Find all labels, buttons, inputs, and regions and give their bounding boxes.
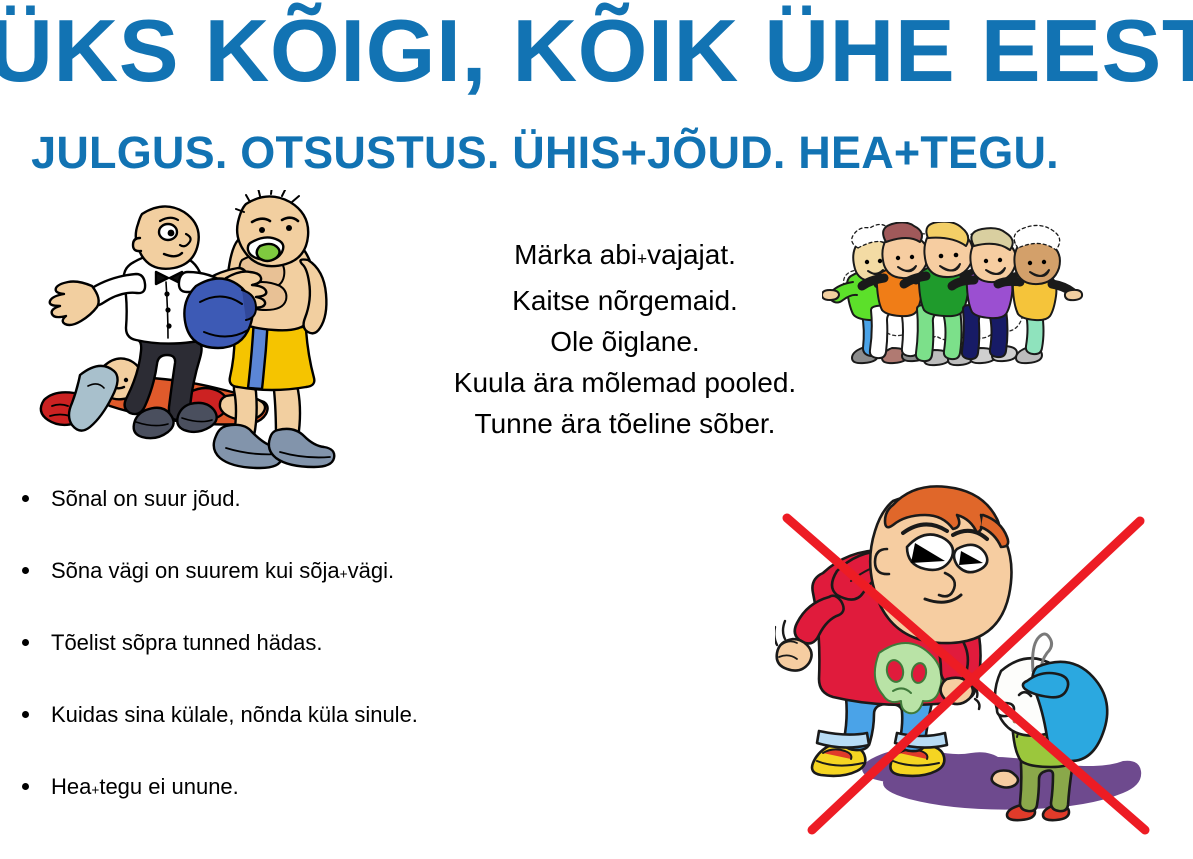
bullet-icon (22, 495, 29, 502)
list-item: Sõna vägi on suurem kui sõja+vägi. (22, 559, 662, 631)
verse-line-3: Ole õiglane. (385, 321, 865, 362)
maxim-text: Kuidas sina külale, nõnda küla sinule. (51, 702, 418, 727)
verse-line-4: Kuula ära mõlemad pooled. (385, 362, 865, 403)
bullying-illustration (775, 485, 1155, 845)
maxim-text: Hea+tegu ei unune. (51, 774, 239, 799)
verse-line-1: Märka abi+vajajat. (385, 234, 865, 280)
poster-canvas: ÜKS KÕIGI, KÕIK ÜHE EEST. JULGUS. OTSUST… (0, 0, 1193, 859)
verse-line-5: Tunne ära tõeline sõber. (385, 403, 865, 444)
page-subtitle: JULGUS. OTSUSTUS. ÜHIS+JÕUD. HEA+TEGU. (0, 128, 1090, 178)
verse-block: Märka abi+vajajat. Kaitse nõrgemaid. Ole… (385, 234, 865, 444)
maxim-text: Sõna vägi on suurem kui sõja+vägi. (51, 558, 394, 583)
list-item: Sõnal on suur jõud. (22, 487, 662, 559)
list-item: Tõelist sõpra tunned hädas. (22, 631, 662, 703)
verse-line-2: Kaitse nõrgemaid. (385, 280, 865, 321)
list-item: Hea+tegu ei unune. (22, 775, 662, 847)
boxing-referee-illustration (30, 190, 375, 485)
bullet-icon (22, 783, 29, 790)
bully-child (775, 486, 1012, 776)
bullet-icon (22, 567, 29, 574)
maxim-text: Sõnal on suur jõud. (51, 486, 241, 511)
maxim-text: Tõelist sõpra tunned hädas. (51, 630, 323, 655)
page-title: ÜKS KÕIGI, KÕIK ÜHE EEST. (0, 4, 1193, 98)
maxims-list: Sõnal on suur jõud. Sõna vägi on suurem … (22, 487, 662, 847)
bullet-icon (22, 711, 29, 718)
bullet-icon (22, 639, 29, 646)
list-item: Kuidas sina külale, nõnda küla sinule. (22, 703, 662, 775)
five-children-illustration (822, 222, 1092, 377)
